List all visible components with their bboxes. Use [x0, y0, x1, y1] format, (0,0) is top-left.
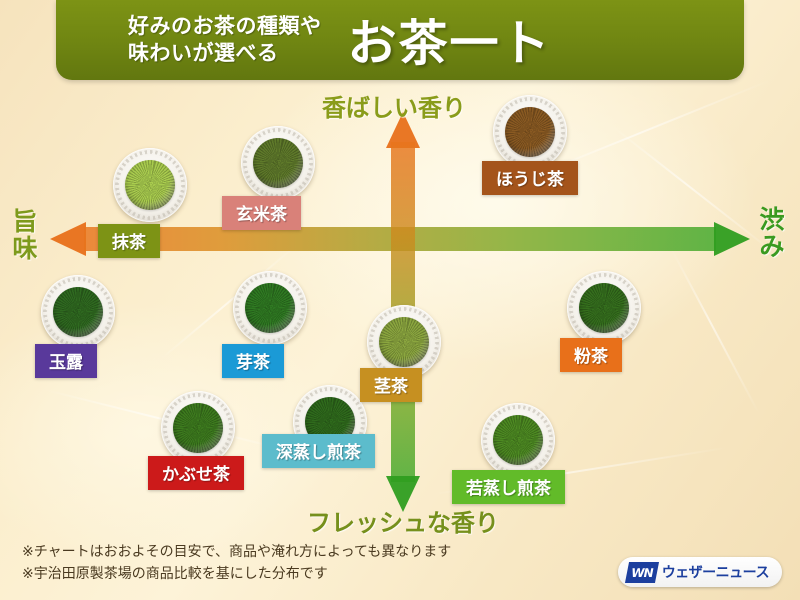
tea-label: 茎茶 — [360, 368, 422, 402]
axis-label-astringency: 渋み — [757, 206, 787, 260]
infographic-page: 好みのお茶の種類や 味わいが選べる お茶一ト 旨味 渋み 香ばしい香り フレッシ… — [0, 0, 800, 600]
tea-leaves — [379, 317, 429, 367]
header-subtitle: 好みのお茶の種類や 味わいが選べる — [128, 13, 322, 67]
axis-label-roasted: 香ばしい香り — [322, 88, 466, 123]
tea-label: 玄米茶 — [222, 196, 301, 230]
tea-bowl-icon — [161, 391, 235, 465]
tea-bowl-icon — [233, 271, 307, 345]
axis-arrow-left-icon — [50, 222, 86, 256]
tea-leaves — [245, 283, 295, 333]
weathernews-mark-icon: WN — [625, 562, 659, 583]
tea-item[interactable]: 若蒸し煎茶 — [458, 403, 578, 477]
weathernews-logo[interactable]: WN ウェザーニュース — [618, 557, 782, 587]
weathernews-logo-text: ウェザーニュース — [662, 562, 769, 582]
tea-leaves — [173, 403, 223, 453]
tea-item[interactable]: 玄米茶 — [218, 126, 338, 200]
tea-label: 抹茶 — [98, 224, 160, 258]
tea-item[interactable]: 茎茶 — [344, 305, 464, 379]
tea-label: 粉茶 — [560, 338, 622, 372]
tea-leaves — [125, 160, 175, 210]
footnote-1: ※チャートはおおよその目安で、商品や淹れ方によっても異なります — [22, 542, 451, 564]
tea-leaves — [253, 138, 303, 188]
footnotes: ※チャートはおおよその目安で、商品や淹れ方によっても異なります ※宇治田原製茶場… — [22, 542, 451, 585]
axis-arrow-right-icon — [714, 222, 750, 256]
header-banner: 好みのお茶の種類や 味わいが選べる お茶一ト — [56, 0, 744, 80]
axis-label-fresh: フレッシュな香り — [307, 503, 499, 538]
paper-texture-vein — [670, 247, 761, 416]
tea-bowl-icon — [567, 271, 641, 345]
axis-label-umami: 旨味 — [10, 208, 40, 262]
tea-item[interactable]: 抹茶 — [90, 148, 210, 222]
tea-label: 若蒸し煎茶 — [452, 470, 565, 504]
tea-bowl-icon — [113, 148, 187, 222]
tea-item[interactable]: 粉茶 — [544, 271, 664, 345]
tea-leaves — [53, 287, 103, 337]
tea-label: かぶせ茶 — [148, 456, 244, 490]
page-title: お茶一ト — [348, 4, 552, 75]
tea-leaves — [579, 283, 629, 333]
tea-leaves — [505, 107, 555, 157]
tea-item[interactable]: かぶせ茶 — [138, 391, 258, 465]
tea-label: 深蒸し煎茶 — [262, 434, 375, 468]
tea-bowl-icon — [241, 126, 315, 200]
footnote-2: ※宇治田原製茶場の商品比較を基にした分布です — [22, 564, 451, 586]
tea-label: 芽茶 — [222, 344, 284, 378]
tea-label: 玉露 — [35, 344, 97, 378]
tea-bowl-icon — [493, 95, 567, 169]
tea-leaves — [493, 415, 543, 465]
tea-bowl-icon — [481, 403, 555, 477]
tea-item[interactable]: 芽茶 — [210, 271, 330, 345]
tea-item[interactable]: 玉露 — [18, 275, 138, 349]
tea-item[interactable]: ほうじ茶 — [470, 95, 590, 169]
tea-bowl-icon — [41, 275, 115, 349]
tea-label: ほうじ茶 — [482, 161, 578, 195]
